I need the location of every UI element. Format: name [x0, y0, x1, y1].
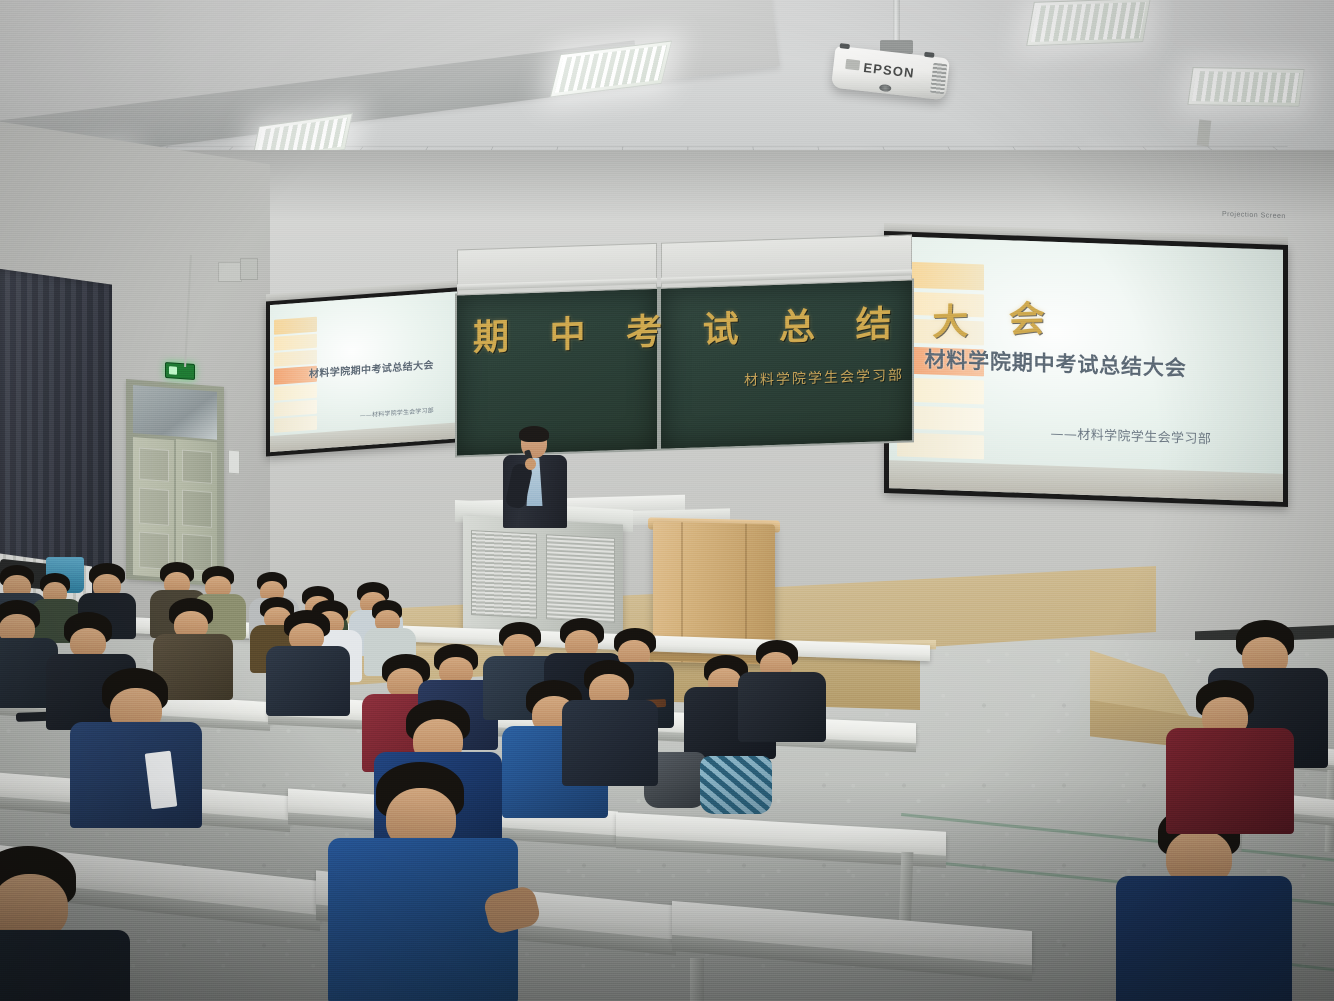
slide-title-left: 材料学院期中考试总结大会 [309, 356, 434, 380]
ceiling-light-panel [1187, 67, 1304, 107]
light-switch[interactable] [228, 449, 240, 474]
slide-subtitle-right: ——材料学院学生会学习部 [1051, 423, 1212, 448]
rear-door[interactable] [133, 437, 174, 578]
lecture-hall-photo: EPSON [0, 0, 1334, 1001]
exit-sign-icon [165, 362, 195, 380]
door-panel [139, 487, 169, 525]
wall-junction-box [218, 262, 242, 282]
projection-screen-right: 材料学院期中考试总结大会 ——材料学院学生会学习部 [884, 231, 1288, 507]
wall-junction-box [240, 258, 258, 280]
projector-lens [879, 84, 892, 92]
console-vent-door[interactable] [546, 534, 615, 623]
projector-brand-label: EPSON [863, 60, 916, 81]
projection-screen-left: 材料学院期中考试总结大会 ——材料学院学生会学习部 [266, 287, 469, 457]
door-transom-window [133, 385, 217, 440]
door-panel [139, 447, 169, 481]
slide-subtitle-left: ——材料学院学生会学习部 [360, 405, 434, 419]
console-vent-door[interactable] [471, 530, 537, 618]
desk-leg [690, 958, 704, 1001]
door-panel [182, 449, 212, 483]
projector-vent [930, 63, 947, 94]
teacher-console-desk [463, 516, 623, 640]
projector-foot [839, 43, 850, 49]
presenter [500, 428, 572, 528]
window-curtain [0, 268, 112, 597]
backpack-camo [700, 756, 772, 814]
projector-foot [924, 52, 935, 58]
door-panel [182, 489, 212, 527]
projector-badge [845, 59, 860, 71]
presenter-hand [525, 458, 536, 470]
slide-surface-right: 材料学院期中考试总结大会 ——材料学院学生会学习部 [889, 236, 1283, 502]
presenter-hair [519, 426, 549, 442]
projector-pole [893, 0, 900, 42]
blackboard-subtitle: 材料学院学生会学习部 [744, 365, 904, 390]
slide-surface-left: 材料学院期中考试总结大会 ——材料学院学生会学习部 [270, 291, 465, 452]
rear-door[interactable] [176, 439, 217, 582]
ceiling-light-panel [1026, 0, 1151, 46]
